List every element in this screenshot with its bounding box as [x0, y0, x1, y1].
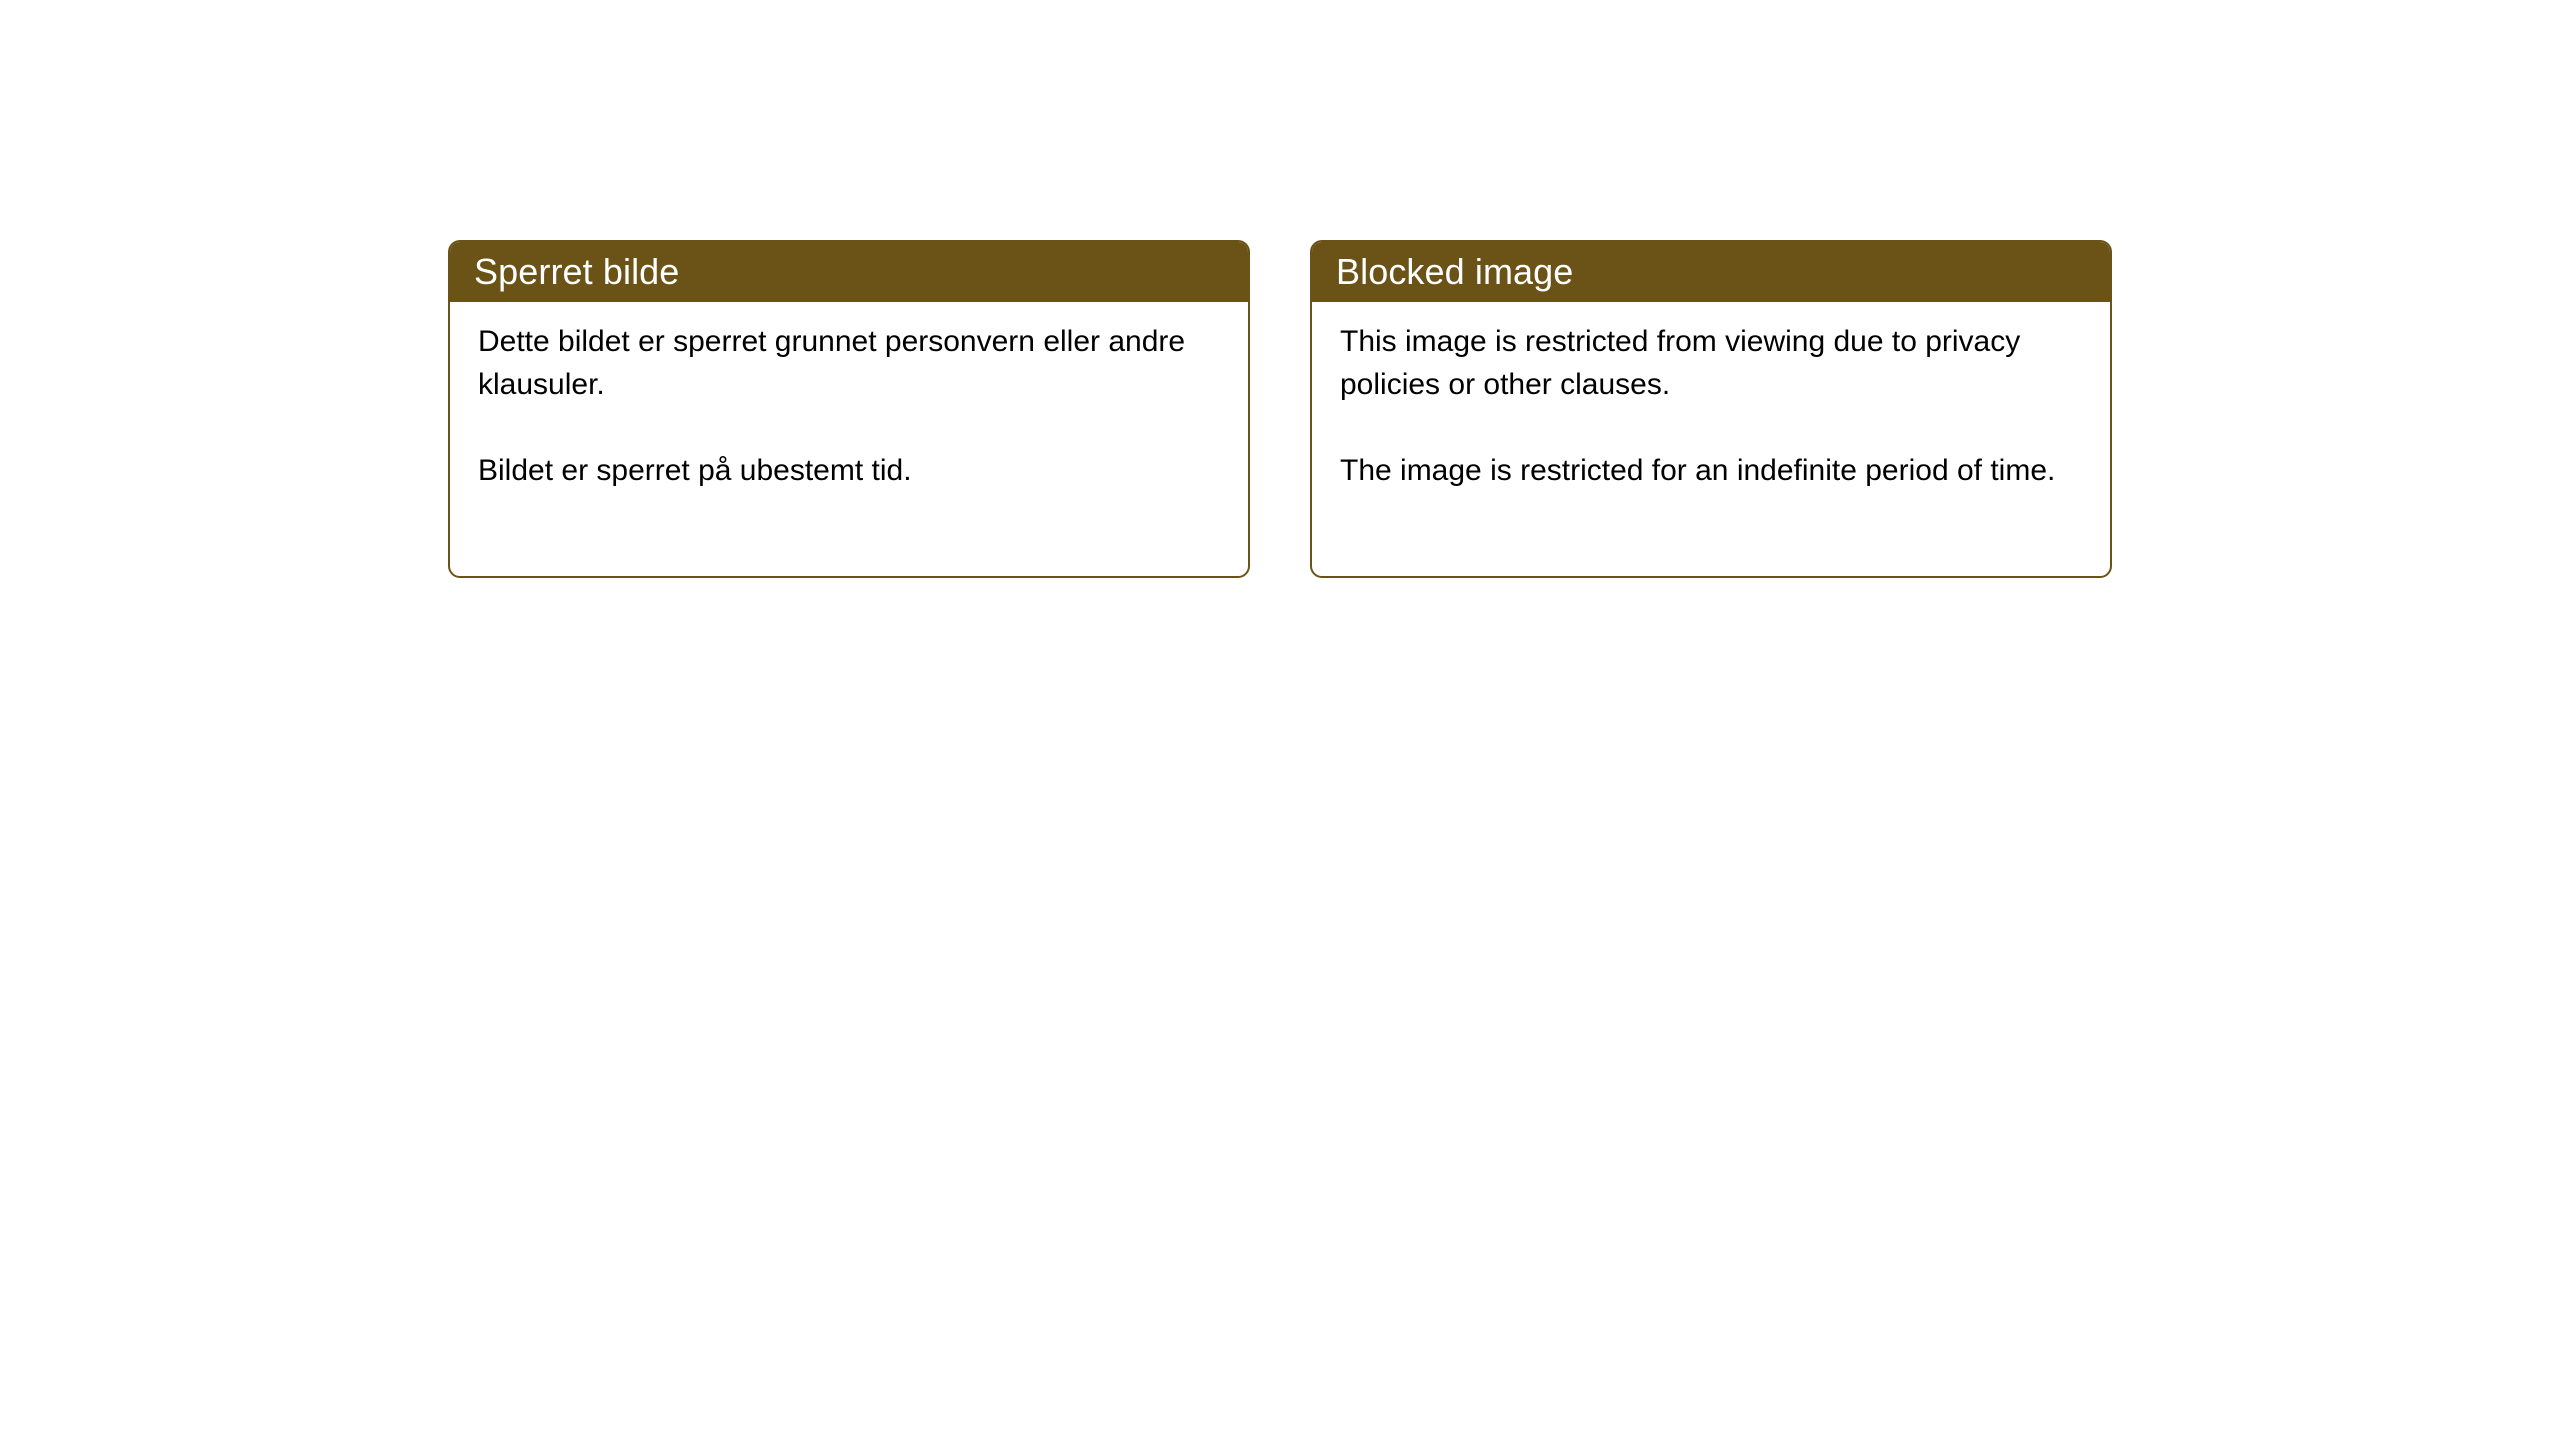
panel-body-english: This image is restricted from viewing du… [1312, 302, 2110, 492]
panel-header-norwegian: Sperret bilde [450, 242, 1248, 302]
panel-header-english: Blocked image [1312, 242, 2110, 302]
panel-body-norwegian: Dette bildet er sperret grunnet personve… [450, 302, 1248, 492]
paragraph-spacer [1340, 406, 2082, 449]
panel-message-secondary-norwegian: Bildet er sperret på ubestemt tid. [478, 449, 1220, 492]
panel-message-secondary-english: The image is restricted for an indefinit… [1340, 449, 2082, 492]
paragraph-spacer [478, 406, 1220, 449]
panel-message-primary-english: This image is restricted from viewing du… [1340, 320, 2082, 406]
panel-title-english: Blocked image [1336, 254, 1573, 290]
blocked-image-panel-english: Blocked image This image is restricted f… [1310, 240, 2112, 578]
panel-message-primary-norwegian: Dette bildet er sperret grunnet personve… [478, 320, 1220, 406]
page-root: Sperret bilde Dette bildet er sperret gr… [0, 0, 2560, 1440]
blocked-image-panel-norwegian: Sperret bilde Dette bildet er sperret gr… [448, 240, 1250, 578]
panel-title-norwegian: Sperret bilde [474, 254, 679, 290]
